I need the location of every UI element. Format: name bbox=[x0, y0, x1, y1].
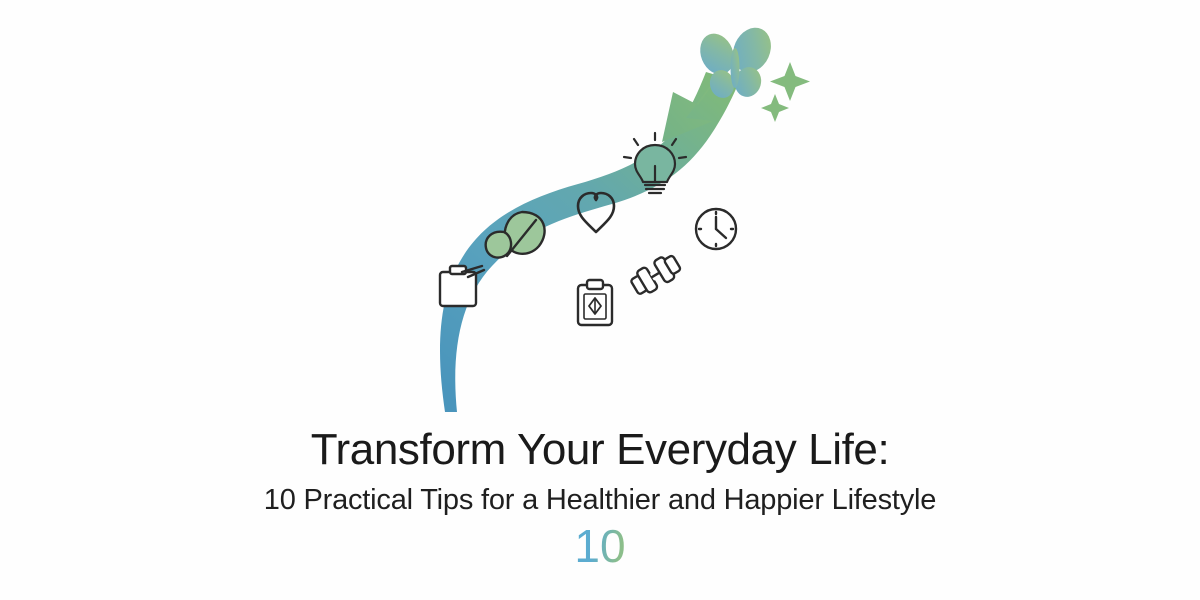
dumbbell-icon bbox=[628, 252, 683, 299]
page-title: Transform Your Everyday Life: bbox=[0, 428, 1200, 472]
growth-arrow-illustration bbox=[0, 0, 1200, 440]
clipboard-pen-icon bbox=[440, 266, 484, 306]
clipboard-energy-icon bbox=[578, 280, 612, 325]
poster-canvas: Transform Your Everyday Life: 10 Practic… bbox=[0, 0, 1200, 600]
sparkle-large-icon bbox=[770, 62, 810, 101]
page-subtitle: 10 Practical Tips for a Healthier and Ha… bbox=[0, 486, 1200, 515]
headline-block: Transform Your Everyday Life: 10 Practic… bbox=[0, 428, 1200, 569]
leaf-icon bbox=[486, 212, 545, 258]
clock-icon bbox=[696, 209, 736, 249]
count-badge: 10 bbox=[574, 523, 625, 569]
count-badge-container: 10 bbox=[0, 523, 1200, 569]
sparkle-small-icon bbox=[761, 94, 789, 122]
